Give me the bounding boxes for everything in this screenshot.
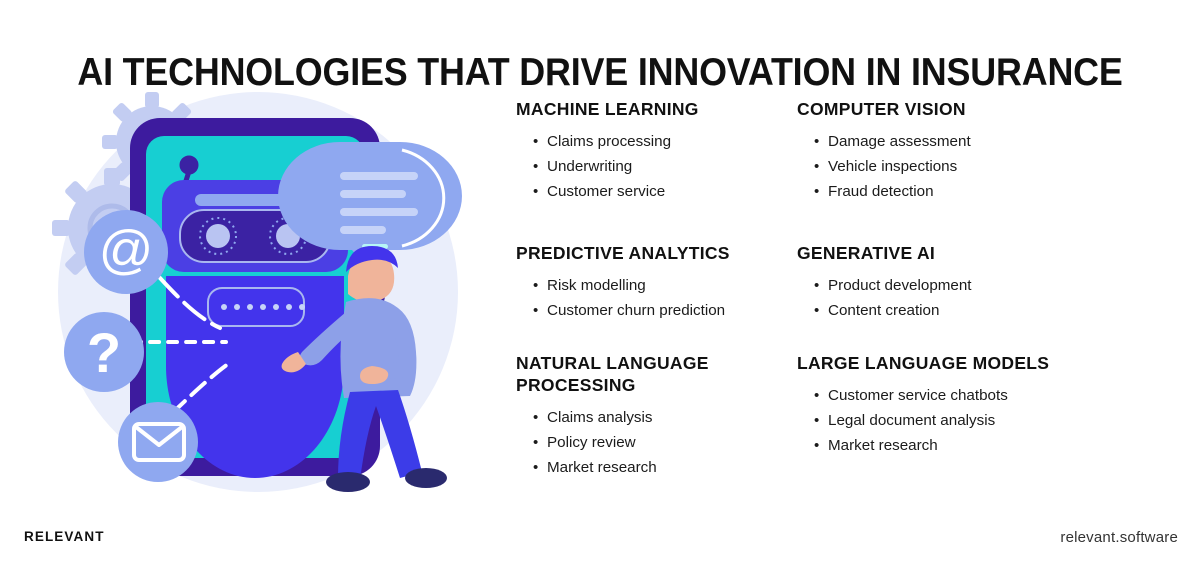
list-item: Risk modelling (516, 273, 796, 298)
block-heading: MACHINE LEARNING (516, 98, 796, 120)
question-mark-icon: ? (64, 312, 144, 392)
block-large-language-models: LARGE LANGUAGE MODELS Customer service c… (797, 352, 1097, 458)
block-natural-language-processing: NATURAL LANGUAGE PROCESSING Claims analy… (516, 352, 796, 480)
block-heading: GENERATIVE AI (797, 242, 1097, 264)
block-list: Customer service chatbots Legal document… (797, 383, 1097, 458)
list-item: Content creation (797, 298, 1097, 323)
block-list: Damage assessment Vehicle inspections Fr… (797, 129, 1097, 204)
block-list: Product development Content creation (797, 273, 1097, 323)
list-item: Damage assessment (797, 129, 1097, 154)
block-heading: COMPUTER VISION (797, 98, 1097, 120)
block-heading: LARGE LANGUAGE MODELS (797, 352, 1097, 374)
website-url[interactable]: relevant.software (1060, 529, 1178, 546)
list-item: Product development (797, 273, 1097, 298)
list-item: Legal document analysis (797, 408, 1097, 433)
block-generative-ai: GENERATIVE AI Product development Conten… (797, 242, 1097, 323)
list-item: Market research (516, 455, 796, 480)
list-item: Policy review (516, 430, 796, 455)
list-item: Customer churn prediction (516, 298, 796, 323)
block-list: Risk modelling Customer churn prediction (516, 273, 796, 323)
svg-text:@: @ (99, 220, 154, 280)
list-item: Market research (797, 433, 1097, 458)
block-computer-vision: COMPUTER VISION Damage assessment Vehicl… (797, 98, 1097, 204)
block-predictive-analytics: PREDICTIVE ANALYTICS Risk modelling Cust… (516, 242, 796, 323)
shoe-right (405, 468, 447, 488)
list-item: Vehicle inspections (797, 154, 1097, 179)
hero-illustration: @ ? (40, 80, 480, 510)
at-sign-icon: @ (84, 210, 168, 294)
shoe-left (326, 472, 370, 492)
list-item: Underwriting (516, 154, 796, 179)
envelope-icon (118, 402, 198, 482)
list-item: Customer service chatbots (797, 383, 1097, 408)
block-list: Claims processing Underwriting Customer … (516, 129, 796, 204)
block-list: Claims analysis Policy review Market res… (516, 405, 796, 480)
list-item: Claims processing (516, 129, 796, 154)
list-item: Customer service (516, 179, 796, 204)
block-machine-learning: MACHINE LEARNING Claims processing Under… (516, 98, 796, 204)
list-item: Fraud detection (797, 179, 1097, 204)
block-heading: NATURAL LANGUAGE PROCESSING (516, 352, 796, 396)
brand-logo: RELEVANT (24, 529, 105, 544)
list-item: Claims analysis (516, 405, 796, 430)
block-heading: PREDICTIVE ANALYTICS (516, 242, 796, 264)
infographic-page: AI TECHNOLOGIES THAT DRIVE INNOVATION IN… (0, 0, 1200, 564)
svg-text:?: ? (87, 321, 121, 384)
